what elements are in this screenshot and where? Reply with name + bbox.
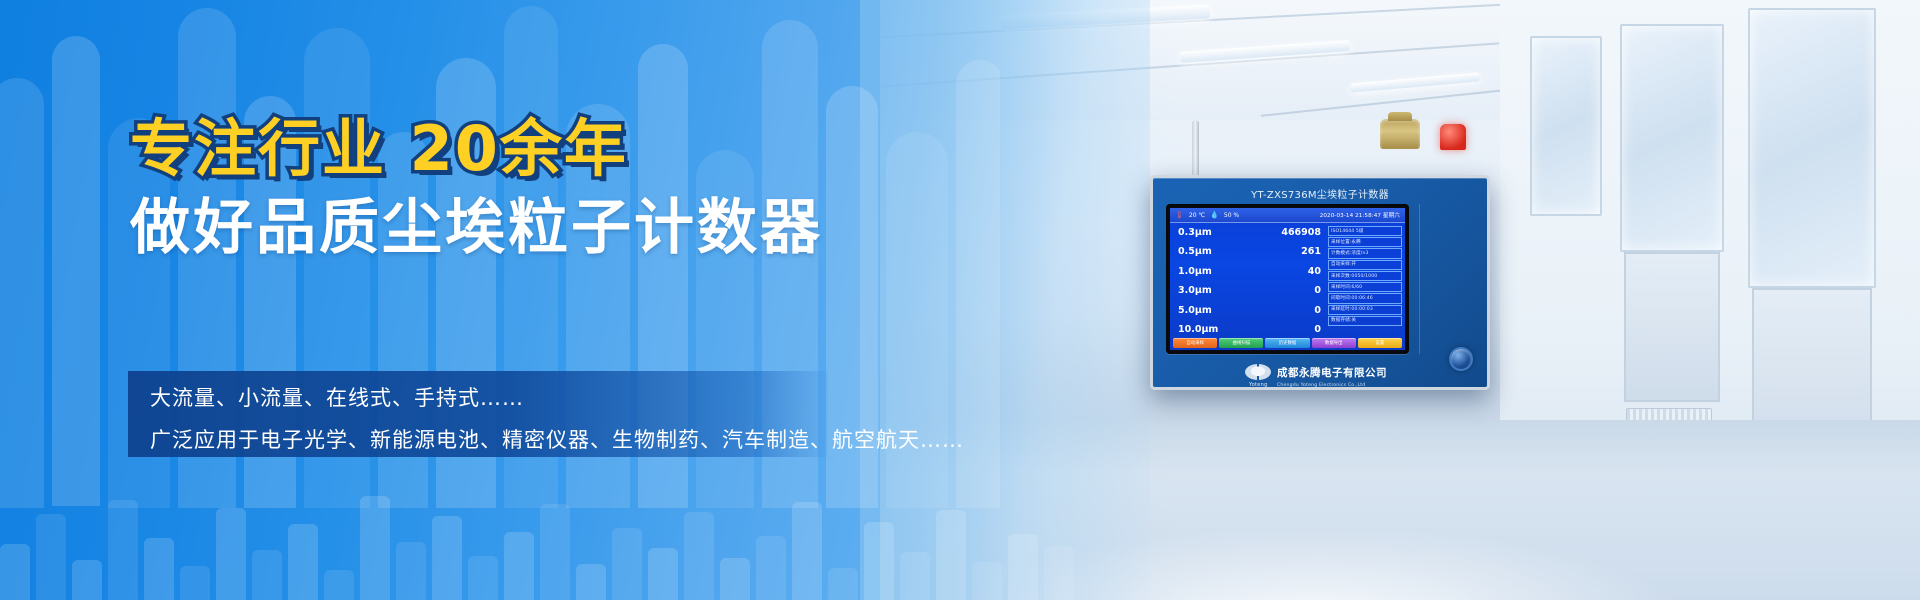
deco-bar <box>52 36 100 506</box>
device-panel-divider <box>1419 204 1420 354</box>
eq-bar <box>684 512 714 600</box>
eq-bar <box>612 528 642 600</box>
device-branding: 成都永腾电子有限公司 <box>1245 364 1387 380</box>
info-row: 采样位置:永腾 <box>1328 237 1402 247</box>
info-row: 数据存储:关 <box>1328 316 1402 326</box>
eq-bar <box>504 532 534 600</box>
particle-count: 0 <box>1314 324 1321 335</box>
particle-row: 1.0μm 40 <box>1178 266 1321 277</box>
eq-bar <box>288 524 318 600</box>
auto-sample-button[interactable]: 自动采样 <box>1173 338 1217 348</box>
particle-row: 10.0μm 0 <box>1178 324 1321 335</box>
eq-bar <box>36 514 66 600</box>
eq-bar <box>576 564 606 600</box>
eq-bar <box>360 496 390 600</box>
eq-bar <box>0 544 30 600</box>
eq-bar <box>252 550 282 600</box>
lcd-body: 0.3μm 466908 0.5μm 261 1.0μm 40 3.0μm <box>1170 223 1405 337</box>
eq-bar <box>468 556 498 600</box>
eq-bar <box>324 570 354 600</box>
info-row: 采样延时:00:00:03 <box>1328 305 1402 315</box>
datetime-value: 2020-03-14 21:58:47 星期六 <box>1320 211 1400 219</box>
water-drop-icon: 💧 <box>1210 212 1219 219</box>
history-data-button[interactable]: 历史数据 <box>1265 338 1309 348</box>
brand-name-en: Chengdu Yoteng Electronics Co.,Ltd <box>1277 383 1365 388</box>
eq-bar <box>216 508 246 600</box>
particle-row: 0.3μm 466908 <box>1178 227 1321 238</box>
particle-count: 40 <box>1308 266 1321 277</box>
device-model-title: YT-ZXS736M尘埃粒子计数器 <box>1153 186 1487 201</box>
eq-bar <box>936 510 966 600</box>
headline-primary: 专注行业 20余年 <box>130 118 890 180</box>
eq-bar <box>180 566 210 600</box>
subtitle-line-2: 广泛应用于电子光学、新能源电池、精密仪器、生物制药、汽车制造、航空航天…… <box>128 412 828 454</box>
wall-window <box>1530 36 1602 216</box>
eq-bar <box>972 562 1002 600</box>
particle-size: 10.0μm <box>1178 324 1218 335</box>
info-row: 采样次数:0050/1000 <box>1328 271 1402 281</box>
subtitle-bar: 大流量、小流量、在线式、手持式…… 广泛应用于电子光学、新能源电池、精密仪器、生… <box>128 371 828 457</box>
brand-logo-text: Yoteng <box>1249 382 1268 388</box>
particle-count: 0 <box>1314 305 1321 316</box>
eq-bar <box>432 516 462 600</box>
eq-bar <box>144 538 174 600</box>
eq-bar <box>828 568 858 600</box>
eq-bar <box>648 548 678 600</box>
particle-size: 3.0μm <box>1178 285 1212 296</box>
particle-count: 261 <box>1301 246 1321 257</box>
particle-count: 0 <box>1314 285 1321 296</box>
info-row: 计数模式:浓度/n3 <box>1328 248 1402 258</box>
eq-bar <box>1044 546 1074 600</box>
particle-readout-list: 0.3μm 466908 0.5μm 261 1.0μm 40 3.0μm <box>1170 223 1327 337</box>
eq-bar <box>900 552 930 600</box>
lcd-button-bar: 自动采样 曲线扫描 历史数据 数据导出 设置 <box>1170 337 1405 350</box>
info-row: 间歇时间:00:06:46 <box>1328 293 1402 303</box>
particle-row: 3.0μm 0 <box>1178 285 1321 296</box>
temperature-value: 20 ℃ <box>1189 212 1205 219</box>
wall-window <box>1748 8 1876 288</box>
data-export-button[interactable]: 数据导出 <box>1312 338 1356 348</box>
humidity-value: 50 % <box>1224 212 1239 219</box>
power-knob[interactable] <box>1449 347 1473 371</box>
particle-row: 5.0μm 0 <box>1178 305 1321 316</box>
particle-counter-device: YT-ZXS736M尘埃粒子计数器 🌡 20 ℃ 💧 50 % 2020-03-… <box>1150 175 1490 390</box>
thermometer-icon: 🌡 <box>1175 212 1184 219</box>
deco-bar <box>0 78 44 508</box>
subtitle-line-1: 大流量、小流量、在线式、手持式…… <box>128 371 828 412</box>
lcd-screen[interactable]: 🌡 20 ℃ 💧 50 % 2020-03-14 21:58:47 星期六 0.… <box>1170 208 1405 350</box>
particle-row: 0.5μm 261 <box>1178 246 1321 257</box>
particle-count: 466908 <box>1281 227 1321 238</box>
equalizer-strip <box>0 470 1100 600</box>
eq-bar <box>396 542 426 600</box>
curve-scan-button[interactable]: 曲线扫描 <box>1219 338 1263 348</box>
lcd-info-panel: ISO14644 5级 采样位置:永腾 计数模式:浓度/n3 自动采样:开 采样… <box>1327 223 1405 337</box>
eq-bar <box>72 560 102 600</box>
headline-secondary: 做好品质尘埃粒子计数器 <box>130 198 890 258</box>
info-row: ISO14644 5级 <box>1328 226 1402 236</box>
brand-name-cn: 成都永腾电子有限公司 <box>1277 365 1387 380</box>
info-row: 自动采样:开 <box>1328 260 1402 270</box>
eq-bar <box>540 504 570 600</box>
headline-block: 专注行业 20余年 做好品质尘埃粒子计数器 <box>130 118 890 258</box>
particle-size: 0.5μm <box>1178 246 1212 257</box>
eq-bar <box>864 522 894 600</box>
device-antenna <box>1192 120 1199 178</box>
wall-door <box>1624 252 1720 402</box>
info-row: 采样时间:6/60 <box>1328 282 1402 292</box>
particle-size: 0.3μm <box>1178 227 1212 238</box>
particle-size: 5.0μm <box>1178 305 1212 316</box>
eq-bar <box>108 500 138 600</box>
settings-button[interactable]: 设置 <box>1358 338 1402 348</box>
wall-window <box>1620 24 1724 252</box>
particle-size: 1.0μm <box>1178 266 1212 277</box>
yoteng-logo-icon <box>1245 364 1271 380</box>
eq-bar <box>1008 534 1038 600</box>
eq-bar <box>792 502 822 600</box>
lcd-bezel: 🌡 20 ℃ 💧 50 % 2020-03-14 21:58:47 星期六 0.… <box>1166 204 1409 354</box>
lcd-status-bar: 🌡 20 ℃ 💧 50 % 2020-03-14 21:58:47 星期六 <box>1170 208 1405 223</box>
eq-bar <box>756 536 786 600</box>
eq-bar <box>720 558 750 600</box>
device-horn-buzzer <box>1380 119 1420 149</box>
device-alarm-beacon <box>1440 124 1466 150</box>
banner-stage: 专注行业 20余年 做好品质尘埃粒子计数器 大流量、小流量、在线式、手持式…… … <box>0 0 1920 600</box>
